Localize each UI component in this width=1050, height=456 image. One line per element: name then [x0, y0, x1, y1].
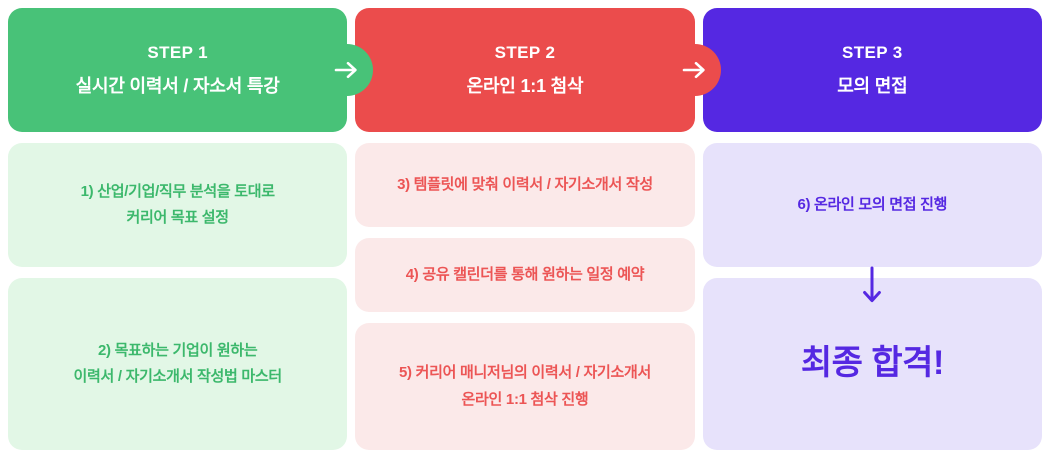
step-2-header: STEP 2 온라인 1:1 첨삭	[355, 8, 694, 132]
step-1-label: STEP 1	[147, 43, 208, 63]
step-3-title: 모의 면접	[825, 72, 919, 98]
final-result-card: 최종 합격!	[703, 278, 1042, 450]
step-2-label: STEP 2	[495, 43, 556, 63]
arrow-right-icon	[669, 44, 721, 96]
arrow-right-icon	[321, 44, 373, 96]
step-1-item-1-line-2: 커리어 목표 설정	[81, 205, 275, 231]
step-1-item-2: 2) 목표하는 기업이 원하는 이력서 / 자기소개서 작성법 마스터	[8, 278, 347, 450]
step-1-header: STEP 1 실시간 이력서 / 자소서 특강	[8, 8, 347, 132]
step-3-item-6-line-1: 6) 온라인 모의 면접 진행	[797, 196, 947, 213]
process-flow-diagram: STEP 1 실시간 이력서 / 자소서 특강 1) 산업/기업/직무 분석을 …	[0, 0, 1050, 456]
step-2-item-5-line-2: 온라인 1:1 첨삭 진행	[399, 387, 651, 413]
step-1-item-1-line-1: 1) 산업/기업/직무 분석을 토대로	[81, 183, 275, 200]
step-2-title: 온라인 1:1 첨삭	[455, 72, 596, 98]
step-3-header: STEP 3 모의 면접	[703, 8, 1042, 132]
step-2-item-3: 3) 템플릿에 맞춰 이력서 / 자기소개서 작성	[355, 143, 694, 227]
step-1-item-1: 1) 산업/기업/직무 분석을 토대로 커리어 목표 설정	[8, 143, 347, 267]
final-result-text: 최종 합격!	[801, 344, 944, 382]
step-1-title: 실시간 이력서 / 자소서 특강	[64, 72, 292, 98]
step-2-item-4: 4) 공유 캘린더를 통해 원하는 일정 예약	[355, 238, 694, 312]
step-1-item-2-line-1: 2) 목표하는 기업이 원하는	[98, 342, 257, 359]
step-2-item-4-line-1: 4) 공유 캘린더를 통해 원하는 일정 예약	[406, 266, 644, 283]
step-3-label: STEP 3	[842, 43, 903, 63]
step-column-3: STEP 3 모의 면접 6) 온라인 모의 면접 진행 최종 합격!	[703, 8, 1042, 450]
step-2-item-3-line-1: 3) 템플릿에 맞춰 이력서 / 자기소개서 작성	[397, 176, 653, 193]
step-2-item-5: 5) 커리어 매니저님의 이력서 / 자기소개서 온라인 1:1 첨삭 진행	[355, 323, 694, 450]
step-1-item-2-line-2: 이력서 / 자기소개서 작성법 마스터	[73, 364, 281, 390]
step-column-1: STEP 1 실시간 이력서 / 자소서 특강 1) 산업/기업/직무 분석을 …	[8, 8, 347, 450]
step-2-item-5-line-1: 5) 커리어 매니저님의 이력서 / 자기소개서	[399, 364, 651, 381]
step-column-2: STEP 2 온라인 1:1 첨삭 3) 템플릿에 맞춰 이력서 / 자기소개서…	[355, 8, 694, 450]
step-3-item-6: 6) 온라인 모의 면접 진행	[703, 143, 1042, 267]
